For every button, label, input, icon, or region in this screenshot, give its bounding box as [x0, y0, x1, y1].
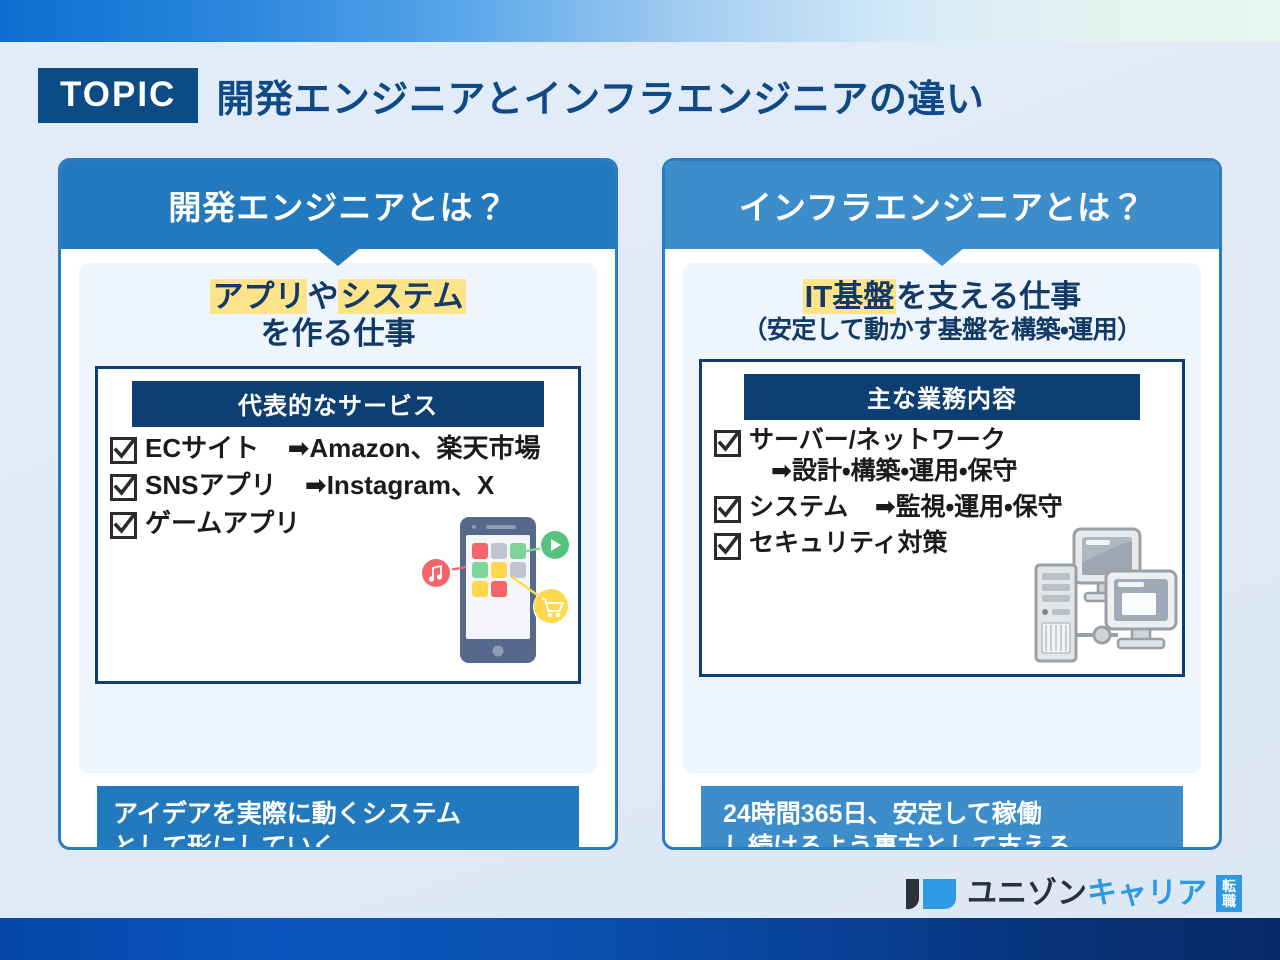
top-gradient-bar [0, 0, 1280, 42]
list-item-main: ECサイト [145, 433, 259, 463]
list-item: ゲームアプリ [110, 508, 566, 539]
header-notch-icon [920, 248, 964, 266]
logo-badge-line-2: 職 [1222, 893, 1236, 909]
card-infrastructure-summary: 24時間365日、安定して稼働 し続けるよう裏方として支える [701, 786, 1183, 850]
slide-root: TOPIC 開発エンジニアとインフラエンジニアの違い 開発エンジニアとは？ アプ… [0, 0, 1280, 960]
checkbox-checked-icon [714, 496, 741, 523]
card-developer-summary: アイデアを実際に動くシステム として形にしていく [97, 786, 579, 850]
logo-mark-icon [904, 877, 958, 911]
card-developer-listbox: 代表的なサービス ECサイト ➡Amazon、楽天市場 [95, 366, 581, 684]
checkbox-checked-icon [110, 474, 137, 501]
lead-connector: や [307, 279, 338, 314]
summary-line-1: 24時間365日、安定して稼働 [723, 798, 1167, 831]
list-item-sub: ➡設計・構築・運用・保守 [749, 457, 1017, 485]
lead-highlight-apps: アプリ [210, 279, 307, 314]
card-developer-body: アプリやシステム を作る仕事 代表的なサービス [61, 249, 615, 850]
summary-line-2: し続けるよう裏方として支える [723, 831, 1167, 851]
card-developer: 開発エンジニアとは？ アプリやシステム を作る仕事 代表的なサービス [58, 158, 618, 850]
list-item-main: サーバー/ネットワーク [749, 426, 1006, 454]
checkbox-checked-icon [110, 437, 137, 464]
card-developer-header-label: 開発エンジニアとは？ [168, 181, 507, 229]
topic-badge: TOPIC [38, 68, 198, 123]
lead-line2-inline: を支える仕事 [896, 279, 1081, 314]
list-item-main: ゲームアプリ [145, 508, 300, 538]
list-item-main: SNSアプリ [145, 470, 276, 500]
lead-highlight-it-infra: IT基盤 [803, 279, 897, 314]
card-infrastructure-listbox: 主な業務内容 サーバー/ネットワーク ➡設計・構築・運用・保守 [699, 359, 1185, 677]
card-infrastructure-panel: IT基盤を支える仕事 （安定して動かす基盤を構築・運用） 主な業務内容 [683, 263, 1201, 773]
list-item: セキュリティ対策 [714, 529, 1170, 560]
list-item: サーバー/ネットワーク ➡設計・構築・運用・保守 [714, 426, 1170, 486]
lead-subtitle: （安定して動かす基盤を構築・運用） [699, 316, 1185, 346]
list-item-sub: ➡Amazon、楽天市場 [264, 433, 541, 463]
checkbox-checked-icon [714, 533, 741, 560]
checkbox-checked-icon [714, 430, 741, 457]
card-developer-header: 開発エンジニアとは？ [61, 161, 615, 249]
bottom-gradient-bar [0, 918, 1280, 960]
logo-name-dark: ユニゾン [967, 877, 1087, 910]
list-item-main: システム [749, 493, 848, 521]
list-item: ECサイト ➡Amazon、楽天市場 [110, 433, 566, 464]
card-infrastructure-header-label: インフラエンジニアとは？ [739, 181, 1145, 229]
checkbox-checked-icon [110, 512, 137, 539]
list-item-sub: ➡Instagram、X [281, 470, 494, 500]
summary-line-1: アイデアを実際に動くシステム [113, 798, 563, 831]
summary-line-2: として形にしていく [113, 831, 563, 851]
brand-logo: ユニゾンキャリア 転 職 [904, 875, 1242, 912]
card-infrastructure-body: IT基盤を支える仕事 （安定して動かす基盤を構築・運用） 主な業務内容 [665, 249, 1219, 850]
list-item-main: セキュリティ対策 [749, 529, 948, 557]
lead-highlight-systems: システム [338, 279, 465, 314]
list-item: SNSアプリ ➡Instagram、X [110, 470, 566, 501]
header-notch-icon [316, 248, 360, 266]
card-infrastructure-header: インフラエンジニアとは？ [665, 161, 1219, 249]
card-developer-panel: アプリやシステム を作る仕事 代表的なサービス [79, 263, 597, 773]
card-developer-lead: アプリやシステム を作る仕事 [95, 279, 581, 352]
logo-wordmark: ユニゾンキャリア [967, 879, 1207, 909]
card-infrastructure: インフラエンジニアとは？ IT基盤を支える仕事 （安定して動かす基盤を構築・運用… [662, 158, 1222, 850]
page-title-text: 開発エンジニアとインフラエンジニアの違い [216, 68, 984, 123]
listbox-title-duties: 主な業務内容 [744, 374, 1140, 420]
listbox-title-services: 代表的なサービス [132, 381, 544, 427]
logo-badge-tenshoku: 転 職 [1216, 875, 1242, 912]
card-infrastructure-lead: IT基盤を支える仕事 （安定して動かす基盤を構築・運用） [699, 279, 1185, 345]
page-title: TOPIC 開発エンジニアとインフラエンジニアの違い [38, 68, 984, 123]
list-item: システム ➡監視・運用・保守 [714, 492, 1170, 523]
list-item-sub: ➡監視・運用・保守 [853, 493, 1063, 521]
lead-line2: を作る仕事 [95, 316, 581, 353]
logo-name-blue: キャリア [1087, 877, 1207, 910]
